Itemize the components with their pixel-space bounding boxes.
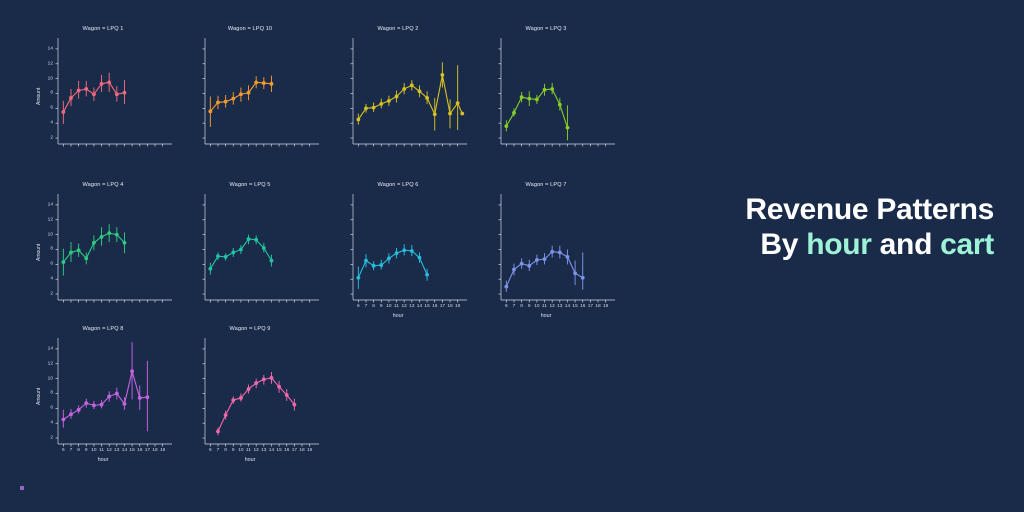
data-point — [247, 387, 251, 391]
data-point — [254, 238, 258, 242]
data-point — [224, 413, 228, 417]
facet-plot — [473, 182, 619, 330]
caption-line-1: Revenue Patterns — [654, 193, 994, 228]
data-point — [527, 264, 531, 268]
data-point — [84, 257, 88, 261]
data-point — [292, 403, 296, 407]
facet-plot — [177, 26, 323, 174]
data-point — [270, 82, 274, 86]
y-axis-label: Amount — [36, 388, 42, 405]
data-point — [550, 87, 554, 91]
facet-plot — [177, 182, 323, 330]
facet-plot — [30, 26, 176, 174]
facet-lpq-10: Wagon = LPQ 10 — [177, 26, 323, 174]
data-point — [402, 248, 406, 252]
data-point — [130, 369, 134, 373]
facet-lpq-4: Wagon = LPQ 42468101214Amount — [30, 182, 176, 330]
caption-line-2: By hour and cart — [654, 228, 994, 263]
x-axis-label: hour — [30, 457, 176, 463]
x-axis-label: hour — [177, 457, 323, 463]
data-point — [581, 276, 585, 280]
data-point — [558, 103, 562, 107]
data-point — [208, 109, 212, 113]
data-point — [387, 257, 391, 261]
data-point — [254, 381, 258, 385]
data-point — [254, 80, 258, 84]
data-point — [543, 257, 547, 261]
data-point — [231, 398, 235, 402]
data-point — [92, 241, 96, 245]
caption-prefix: By — [760, 228, 806, 261]
data-point — [123, 402, 127, 406]
data-point — [460, 112, 464, 116]
data-point — [107, 80, 111, 84]
data-point — [277, 385, 281, 389]
data-point — [247, 237, 251, 241]
data-point — [69, 251, 73, 255]
data-point — [504, 285, 508, 289]
data-point — [387, 99, 391, 103]
data-point — [543, 88, 547, 92]
data-point — [512, 268, 516, 272]
data-point — [239, 92, 243, 96]
y-axis-label: Amount — [36, 244, 42, 261]
caption-conjunction: and — [872, 228, 941, 261]
data-point — [504, 124, 508, 128]
data-point — [356, 118, 360, 122]
data-point — [425, 96, 429, 100]
data-point — [566, 255, 570, 259]
data-point — [395, 95, 399, 99]
data-point — [270, 259, 274, 263]
facet-lpq-3: Wagon = LPQ 3 — [473, 26, 619, 174]
data-point — [270, 376, 274, 380]
data-point — [425, 273, 429, 277]
data-point — [100, 82, 104, 86]
data-point — [440, 73, 444, 77]
data-point — [418, 256, 422, 260]
facet-lpq-7: Wagon = LPQ 7678910111213141516171819hou… — [473, 182, 619, 330]
data-point — [550, 250, 554, 254]
data-point — [107, 231, 111, 235]
data-point — [262, 377, 266, 381]
facet-plot — [325, 182, 471, 330]
data-point — [247, 91, 251, 95]
caption-block: Revenue Patterns By hour and cart — [654, 193, 994, 263]
data-point — [535, 98, 539, 102]
facet-lpq-8: Wagon = LPQ 8246810121467891011121314151… — [30, 326, 176, 474]
data-point — [364, 259, 368, 263]
data-point — [216, 429, 220, 433]
data-point — [239, 396, 243, 400]
y-axis-label: Amount — [36, 88, 42, 105]
screenshot-root: Wagon = LPQ 12468101214AmountWagon = LPQ… — [0, 0, 1024, 512]
data-point — [448, 112, 452, 116]
data-point — [208, 267, 212, 271]
data-point — [69, 96, 73, 100]
data-point — [239, 248, 243, 252]
data-point — [100, 403, 104, 407]
data-point — [123, 91, 127, 95]
data-point — [123, 241, 127, 245]
data-point — [410, 249, 414, 253]
data-point — [573, 271, 577, 275]
data-point — [84, 87, 88, 91]
data-point — [372, 264, 376, 268]
data-point — [216, 101, 220, 105]
data-point — [456, 101, 460, 105]
facet-plot — [177, 326, 323, 474]
stray-marker-speck — [20, 486, 24, 490]
data-point — [520, 95, 524, 99]
data-point — [61, 418, 65, 422]
data-point — [69, 412, 73, 416]
facet-lpq-9: Wagon = LPQ 9678910111213141516171819hou… — [177, 326, 323, 474]
caption-accent-cart: cart — [940, 228, 994, 261]
data-point — [535, 258, 539, 262]
data-point — [433, 112, 437, 116]
data-point — [402, 87, 406, 91]
data-point — [92, 403, 96, 407]
data-point — [145, 395, 149, 399]
facet-lpq-5: Wagon = LPQ 5 — [177, 182, 323, 330]
data-point — [231, 251, 235, 255]
data-point — [92, 92, 96, 96]
data-point — [527, 97, 531, 101]
x-axis-label: hour — [473, 313, 619, 319]
data-point — [216, 254, 220, 258]
data-point — [115, 392, 119, 396]
data-point — [356, 276, 360, 280]
data-point — [77, 248, 81, 252]
data-point — [285, 393, 289, 397]
data-point — [138, 396, 142, 400]
x-axis-label: hour — [325, 313, 471, 319]
data-point — [558, 251, 562, 255]
data-point — [262, 246, 266, 250]
data-point — [224, 255, 228, 259]
data-point — [379, 102, 383, 106]
facet-grid: Wagon = LPQ 12468101214AmountWagon = LPQ… — [0, 0, 648, 512]
data-point — [61, 110, 65, 114]
caption-line-1-text: Revenue Patterns — [745, 193, 994, 226]
facet-lpq-6: Wagon = LPQ 6678910111213141516171819hou… — [325, 182, 471, 330]
data-point — [77, 89, 81, 93]
data-point — [107, 395, 111, 399]
data-point — [395, 251, 399, 255]
data-point — [84, 401, 88, 405]
data-point — [379, 263, 383, 267]
data-point — [100, 235, 104, 239]
facet-lpq-1: Wagon = LPQ 12468101214Amount — [30, 26, 176, 174]
data-point — [231, 97, 235, 101]
facet-plot — [30, 182, 176, 330]
data-point — [61, 260, 65, 264]
data-point — [77, 408, 81, 412]
caption-accent-hour: hour — [806, 228, 871, 261]
data-point — [418, 89, 422, 93]
facet-plot — [473, 26, 619, 174]
facet-plot — [30, 326, 176, 474]
data-point — [520, 262, 524, 266]
data-point — [115, 92, 119, 96]
facet-lpq-2: Wagon = LPQ 2 — [325, 26, 471, 174]
data-point — [364, 106, 368, 110]
data-point — [410, 83, 414, 87]
data-point — [262, 81, 266, 85]
facet-plot — [325, 26, 471, 174]
data-point — [512, 111, 516, 115]
data-point — [566, 126, 570, 130]
data-point — [372, 106, 376, 110]
data-point — [115, 233, 119, 237]
data-point — [224, 100, 228, 104]
